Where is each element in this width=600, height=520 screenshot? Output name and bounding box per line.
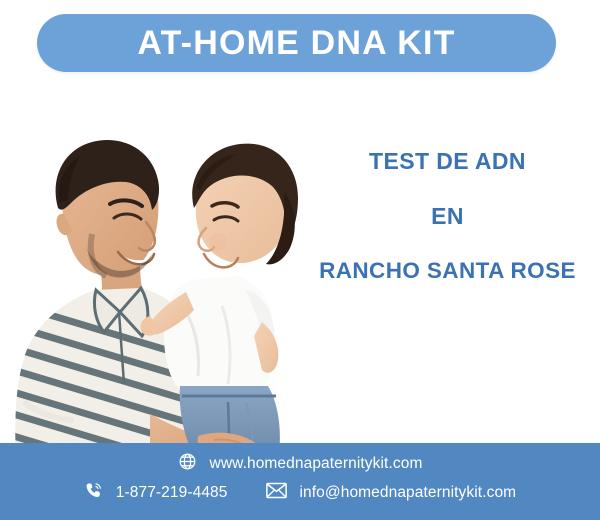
headline-block: TEST DE ADN EN RANCHO SANTA ROSE xyxy=(300,150,595,283)
family-photo-illustration xyxy=(0,84,330,464)
family-photo xyxy=(0,84,330,464)
headline-line-1: TEST DE ADN xyxy=(300,150,595,173)
header-banner: AT-HOME DNA KIT xyxy=(37,14,556,72)
headline-line-3: RANCHO SANTA ROSE xyxy=(300,260,595,283)
website-contact[interactable]: www.homednapaternitykit.com xyxy=(178,452,423,476)
phone-contact[interactable]: 1-877-219-4485 xyxy=(84,481,228,505)
email-contact[interactable]: info@homednapaternitykit.com xyxy=(266,482,517,504)
envelope-icon xyxy=(266,482,287,504)
footer-bar: www.homednapaternitykit.com 1-877-219-44… xyxy=(0,443,600,520)
headline-line-2: EN xyxy=(300,205,595,228)
poster-canvas: AT-HOME DNA KIT xyxy=(0,0,600,520)
phone-label: 1-877-219-4485 xyxy=(116,485,228,501)
footer-row-website: www.homednapaternitykit.com xyxy=(0,452,600,476)
email-label: info@homednapaternitykit.com xyxy=(300,485,517,501)
globe-icon xyxy=(178,452,197,476)
page-title: AT-HOME DNA KIT xyxy=(137,26,455,60)
footer-row-phone-email: 1-877-219-4485 info@homednapaternitykit.… xyxy=(0,481,600,505)
website-label: www.homednapaternitykit.com xyxy=(210,456,423,472)
phone-icon xyxy=(84,481,103,505)
